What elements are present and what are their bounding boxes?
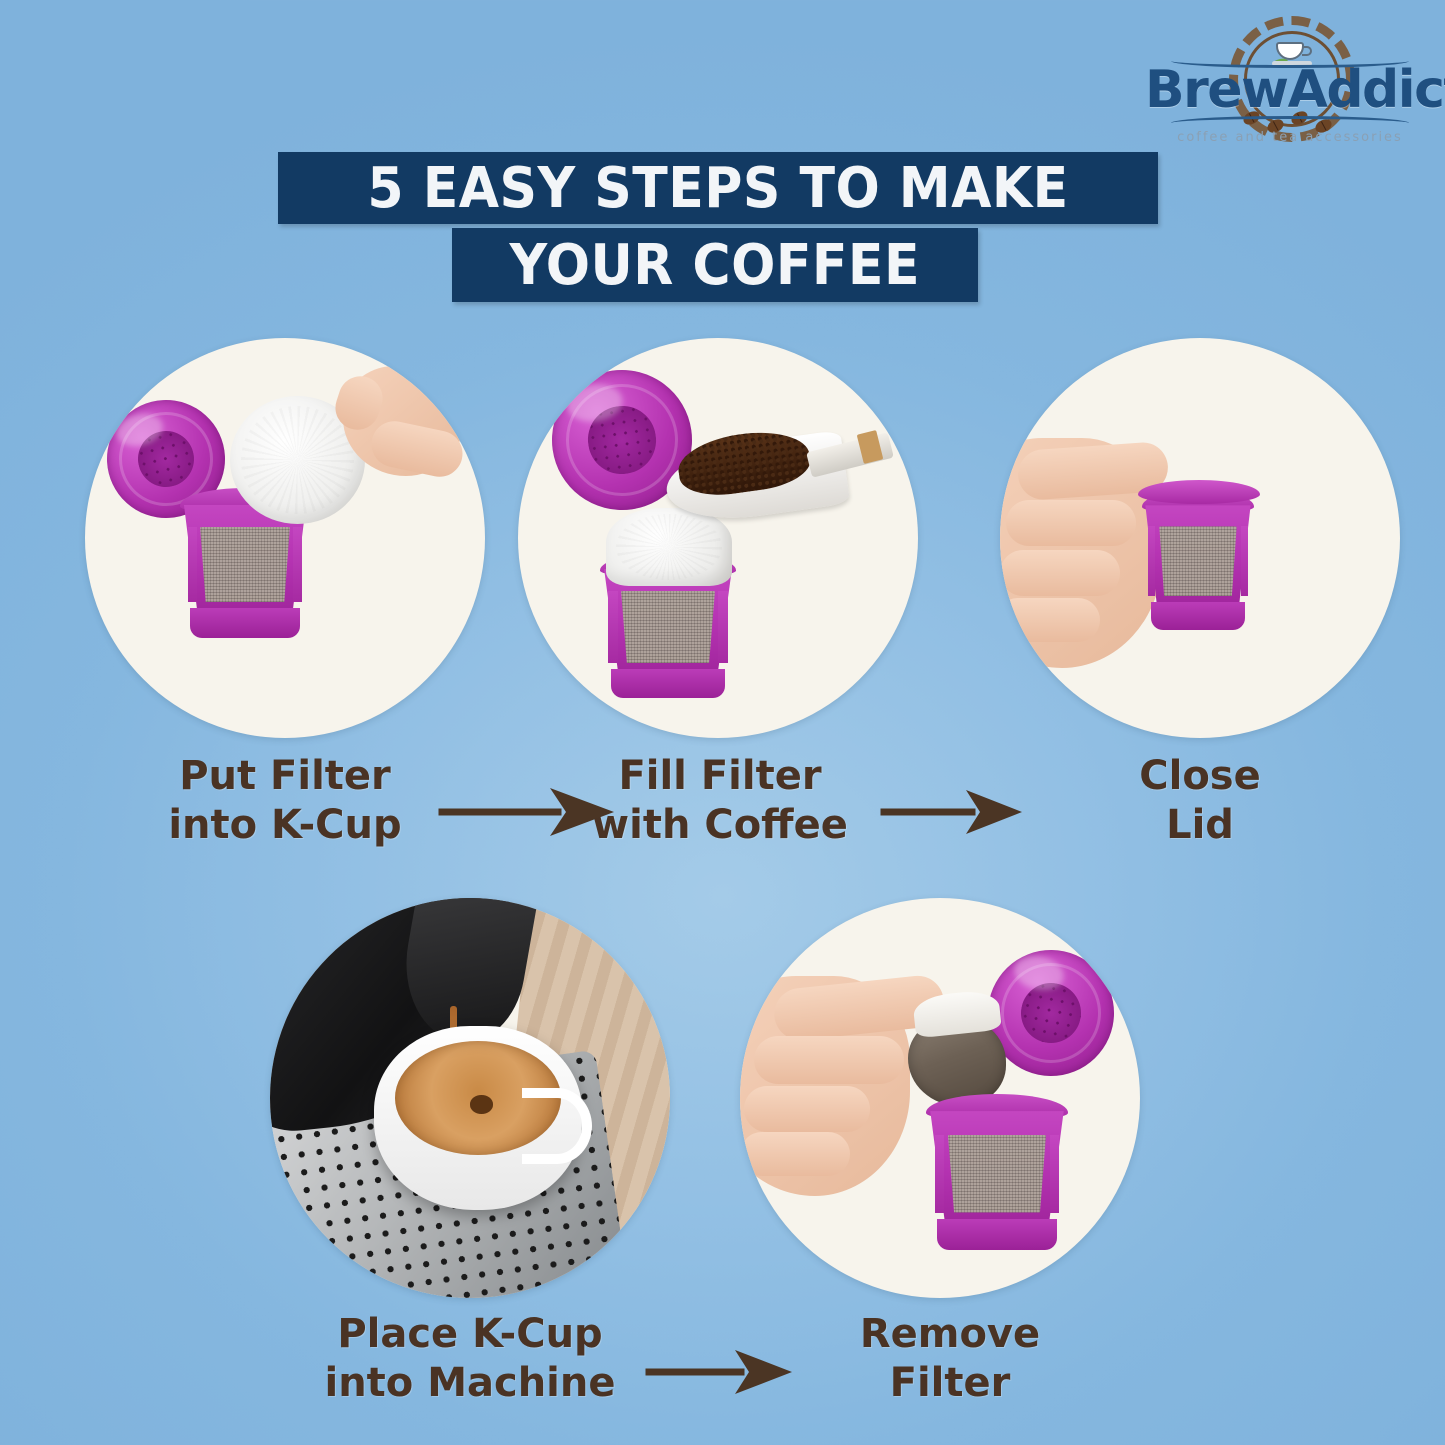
brand-tagline: coffee and tea accessories [1145, 130, 1435, 145]
kcup-closed-lid-icon [1138, 480, 1260, 504]
title-banner-line1: 5 EASY STEPS TO MAKE [278, 152, 1158, 224]
brand-logo: BrewAddicts coffee and tea accessories [1145, 14, 1435, 164]
step-2-photo [518, 338, 918, 738]
arrow-right-icon-1 [438, 782, 618, 842]
finger [754, 1036, 904, 1084]
title-banner-line2: YOUR COFFEE [452, 228, 978, 302]
finger [1006, 500, 1136, 546]
paper-filter-liner-icon [606, 508, 732, 586]
step-3-photo [1000, 338, 1400, 738]
title-line2-text: YOUR COFFEE [510, 233, 921, 298]
arrow-right-icon-3 [645, 1342, 795, 1402]
finger [1000, 598, 1100, 642]
step-1-photo [85, 338, 485, 738]
logo-sweep-bottom [1171, 116, 1409, 130]
step-4-label: Place K-Cup into Machine [250, 1310, 690, 1408]
finger [1000, 550, 1120, 596]
step-5-photo [740, 898, 1140, 1298]
finger [744, 1086, 870, 1132]
finger [740, 1132, 850, 1176]
step-3-label: Close Lid [1010, 752, 1390, 850]
title-line1-text: 5 EASY STEPS TO MAKE [367, 156, 1068, 221]
cup-handle [522, 1088, 592, 1164]
reusable-kcup-icon [926, 1094, 1068, 1250]
brand-name: BrewAddicts [1145, 60, 1435, 120]
step-4-photo [270, 898, 670, 1298]
used-filter-icon [908, 1016, 1006, 1106]
reusable-kcup-closed-icon [1142, 490, 1254, 630]
arrow-right-icon-2 [880, 782, 1025, 842]
step-5-label: Remove Filter [760, 1310, 1140, 1408]
